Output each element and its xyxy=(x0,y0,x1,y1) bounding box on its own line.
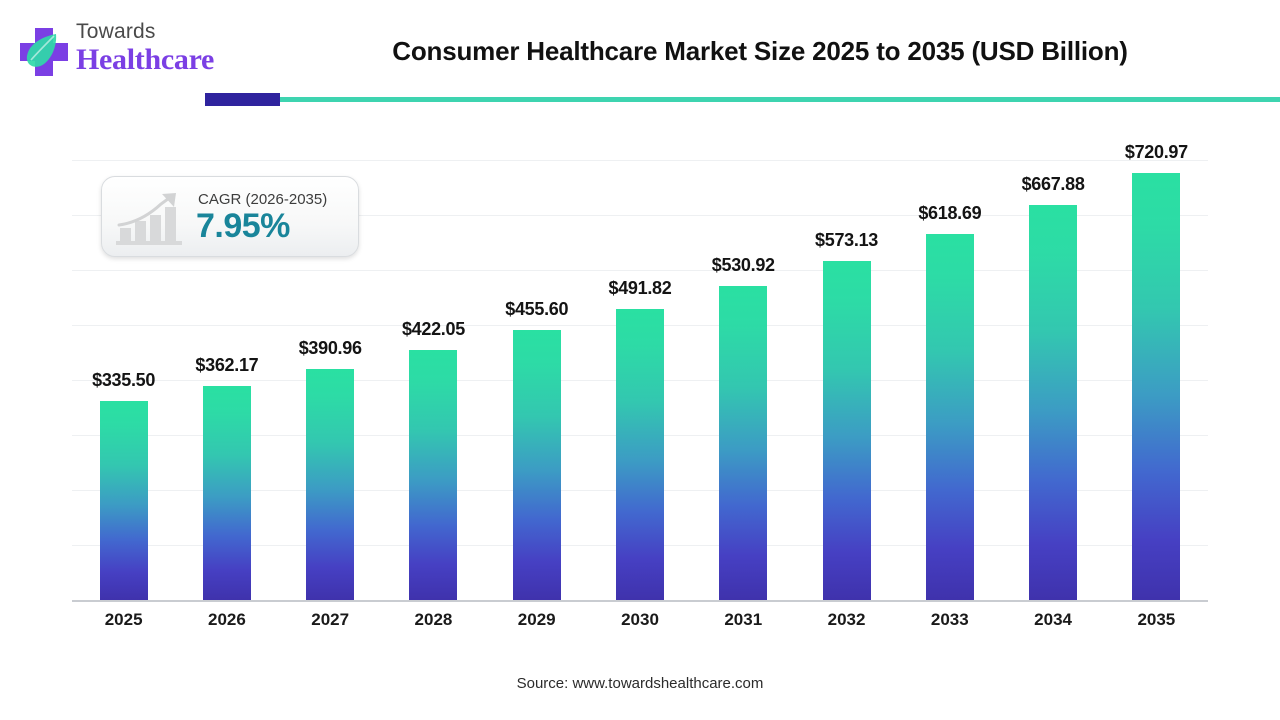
chart-page: Towards Healthcare Consumer Healthcare M… xyxy=(0,0,1280,720)
chart-bar-value-label: $667.88 xyxy=(1022,174,1085,195)
chart-x-axis-label: 2034 xyxy=(1008,610,1098,630)
chart-bar-value-label: $390.96 xyxy=(299,338,362,359)
chart-bar-value-label: $455.60 xyxy=(505,299,568,320)
chart-bar[interactable] xyxy=(926,234,974,600)
chart-x-axis-label: 2032 xyxy=(802,610,892,630)
header-accent-rail xyxy=(205,97,1280,102)
page-header: Towards Healthcare Consumer Healthcare M… xyxy=(0,0,1280,100)
cagr-badge: CAGR (2026-2035) 7.95% xyxy=(101,176,359,257)
brand-wordmark: Towards Healthcare xyxy=(76,20,256,76)
page-title: Consumer Healthcare Market Size 2025 to … xyxy=(260,36,1260,67)
chart-bar[interactable] xyxy=(719,286,767,600)
chart-bar-value-label: $573.13 xyxy=(815,230,878,251)
chart-x-axis-label: 2035 xyxy=(1111,610,1201,630)
chart-x-axis-label: 2025 xyxy=(79,610,169,630)
chart-bar[interactable] xyxy=(100,401,148,600)
brand-wordmark-line1: Towards xyxy=(76,20,256,44)
chart-x-axis-label: 2031 xyxy=(698,610,788,630)
chart-bar[interactable] xyxy=(1029,205,1077,600)
chart-bar[interactable] xyxy=(306,369,354,600)
growth-bar-chart-arrow-icon xyxy=(114,190,190,246)
chart-bar-value-label: $530.92 xyxy=(712,255,775,276)
source-caption: Source: www.towardshealthcare.com xyxy=(0,675,1280,692)
chart-bar-value-label: $720.97 xyxy=(1125,142,1188,163)
chart-x-axis-label: 2033 xyxy=(905,610,995,630)
chart-bar-value-label: $618.69 xyxy=(918,203,981,224)
chart-axis-baseline xyxy=(72,600,1208,602)
chart-bar-group[interactable]: $720.97 xyxy=(1132,150,1180,600)
chart-x-axis-label: 2026 xyxy=(182,610,272,630)
chart-bar-group[interactable]: $573.13 xyxy=(823,150,871,600)
chart-bar-group[interactable]: $422.05 xyxy=(409,150,457,600)
chart-bar-group[interactable]: $618.69 xyxy=(926,150,974,600)
cagr-value: 7.95% xyxy=(196,207,290,246)
brand-wordmark-line2: Healthcare xyxy=(76,44,256,76)
chart-x-axis-label: 2027 xyxy=(285,610,375,630)
chart-bar-value-label: $422.05 xyxy=(402,319,465,340)
chart-bar-group[interactable]: $491.82 xyxy=(616,150,664,600)
chart-bar[interactable] xyxy=(513,330,561,600)
brand-logo[interactable]: Towards Healthcare xyxy=(16,16,256,84)
chart-bar[interactable] xyxy=(616,309,664,600)
chart-x-axis-label: 2029 xyxy=(492,610,582,630)
chart-bar-value-label: $335.50 xyxy=(92,370,155,391)
chart-bar[interactable] xyxy=(1132,173,1180,600)
chart-bar[interactable] xyxy=(823,261,871,600)
chart-x-axis-label: 2030 xyxy=(595,610,685,630)
chart-bar-group[interactable]: $455.60 xyxy=(513,150,561,600)
chart-bar[interactable] xyxy=(409,350,457,600)
chart-bar-group[interactable]: $530.92 xyxy=(719,150,767,600)
chart-bar-value-label: $491.82 xyxy=(609,278,672,299)
chart-bar-value-label: $362.17 xyxy=(195,355,258,376)
medical-cross-leaf-icon xyxy=(16,24,72,80)
header-accent-rail-highlight xyxy=(205,93,280,106)
chart-bar-group[interactable]: $667.88 xyxy=(1029,150,1077,600)
cagr-label: CAGR (2026-2035) xyxy=(198,191,327,208)
chart-x-axis-label: 2028 xyxy=(388,610,478,630)
chart-bar[interactable] xyxy=(203,386,251,600)
